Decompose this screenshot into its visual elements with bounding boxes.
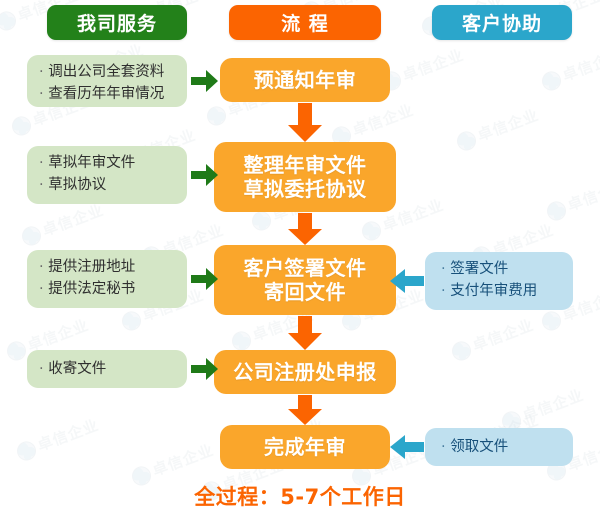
step-box-4-line-1: 公司注册处申报	[233, 360, 377, 384]
watermark-text: 卓信企业	[36, 418, 101, 454]
right-box-1-item-1: 签署文件	[441, 258, 508, 280]
column-header-client-assist-label: 客户协助	[462, 9, 542, 36]
step-box-3: 客户签署文件 寄回文件	[214, 245, 396, 315]
watermark: 卓信企业	[544, 176, 600, 223]
step-box-5-line-1: 完成年审	[264, 435, 346, 459]
globe-icon	[249, 209, 273, 233]
arrow-down-icon	[287, 316, 323, 351]
left-box-4-item-1: 收寄文件	[39, 358, 106, 380]
step-box-2-line-1: 整理年审文件	[244, 153, 367, 177]
step-box-4: 公司注册处申报	[214, 350, 396, 394]
footer-duration: 全过程：5-7个工作日	[0, 481, 600, 511]
globe-icon	[9, 114, 33, 138]
arrow-left-icon	[390, 435, 424, 459]
left-box-1-item-1: 调出公司全套资料	[39, 61, 164, 83]
watermark: 卓信企业	[379, 46, 466, 93]
step-box-5: 完成年审	[220, 425, 390, 469]
globe-icon	[539, 69, 563, 93]
step-box-1-line-1: 预通知年审	[254, 68, 357, 92]
right-box-1: 签署文件 支付年审费用	[425, 252, 573, 310]
right-box-1-item-2: 支付年审费用	[441, 280, 537, 302]
globe-icon	[544, 199, 568, 223]
watermark-text: 卓信企业	[566, 178, 600, 214]
globe-icon	[119, 309, 143, 333]
step-box-3-line-2: 寄回文件	[264, 280, 346, 304]
arrow-right-icon	[191, 267, 219, 291]
watermark-text: 卓信企业	[476, 108, 541, 144]
step-box-2: 整理年审文件 草拟委托协议	[214, 142, 396, 212]
globe-icon	[19, 224, 43, 248]
arrow-right-icon	[191, 163, 219, 187]
arrow-down-icon	[287, 395, 323, 426]
column-header-client-assist: 客户协助	[432, 5, 572, 40]
column-header-our-services-label: 我司服务	[77, 9, 157, 36]
flowchart-canvas: 卓信企业卓信企业卓信企业卓信企业卓信企业卓信企业卓信企业卓信企业卓信企业卓信企业…	[0, 0, 600, 512]
arrow-down-icon	[287, 213, 323, 246]
left-box-1-item-2: 查看历年年审情况	[39, 83, 164, 105]
column-header-our-services: 我司服务	[47, 5, 187, 40]
right-box-2-item-1: 领取文件	[441, 436, 508, 458]
arrow-right-icon	[191, 357, 219, 381]
left-box-4: 收寄文件	[27, 350, 187, 388]
step-box-2-line-2: 草拟委托协议	[244, 177, 367, 201]
watermark-text: 卓信企业	[521, 388, 586, 424]
column-header-process: 流 程	[229, 5, 381, 40]
left-box-3-item-2: 提供法定秘书	[39, 278, 135, 300]
left-box-3-item-1: 提供注册地址	[39, 256, 135, 278]
globe-icon	[539, 309, 563, 333]
left-box-2-item-1: 草拟年审文件	[39, 152, 135, 174]
watermark-text: 卓信企业	[401, 48, 466, 84]
globe-icon	[454, 129, 478, 153]
footer-duration-label: 全过程：5-7个工作日	[194, 485, 405, 509]
watermark: 卓信企业	[449, 316, 536, 363]
globe-icon	[204, 104, 228, 128]
globe-icon	[449, 339, 473, 363]
globe-icon	[0, 9, 19, 33]
watermark-text: 卓信企业	[471, 318, 536, 354]
globe-icon	[14, 439, 38, 463]
watermark-text: 卓信企业	[151, 443, 216, 479]
arrow-left-icon	[390, 269, 424, 293]
watermark: 卓信企业	[14, 416, 101, 463]
arrow-right-icon	[191, 69, 219, 93]
left-box-2: 草拟年审文件 草拟协议	[27, 146, 187, 204]
step-box-3-line-1: 客户签署文件	[244, 256, 367, 280]
watermark-text: 卓信企业	[561, 48, 600, 84]
watermark-text: 卓信企业	[41, 203, 106, 239]
watermark-text: 卓信企业	[26, 318, 91, 354]
globe-icon	[4, 339, 28, 363]
arrow-down-icon	[287, 103, 323, 143]
watermark: 卓信企业	[499, 386, 586, 433]
watermark: 卓信企业	[539, 46, 600, 93]
right-box-2: 领取文件	[425, 428, 573, 466]
left-box-1: 调出公司全套资料 查看历年年审情况	[27, 55, 187, 107]
watermark-text: 卓信企业	[351, 103, 416, 139]
left-box-2-item-2: 草拟协议	[39, 174, 106, 196]
left-box-3: 提供注册地址 提供法定秘书	[27, 250, 187, 308]
watermark: 卓信企业	[19, 201, 106, 248]
watermark: 卓信企业	[454, 106, 541, 153]
column-header-process-label: 流 程	[281, 9, 329, 36]
globe-icon	[359, 219, 383, 243]
step-box-1: 预通知年审	[220, 58, 390, 102]
